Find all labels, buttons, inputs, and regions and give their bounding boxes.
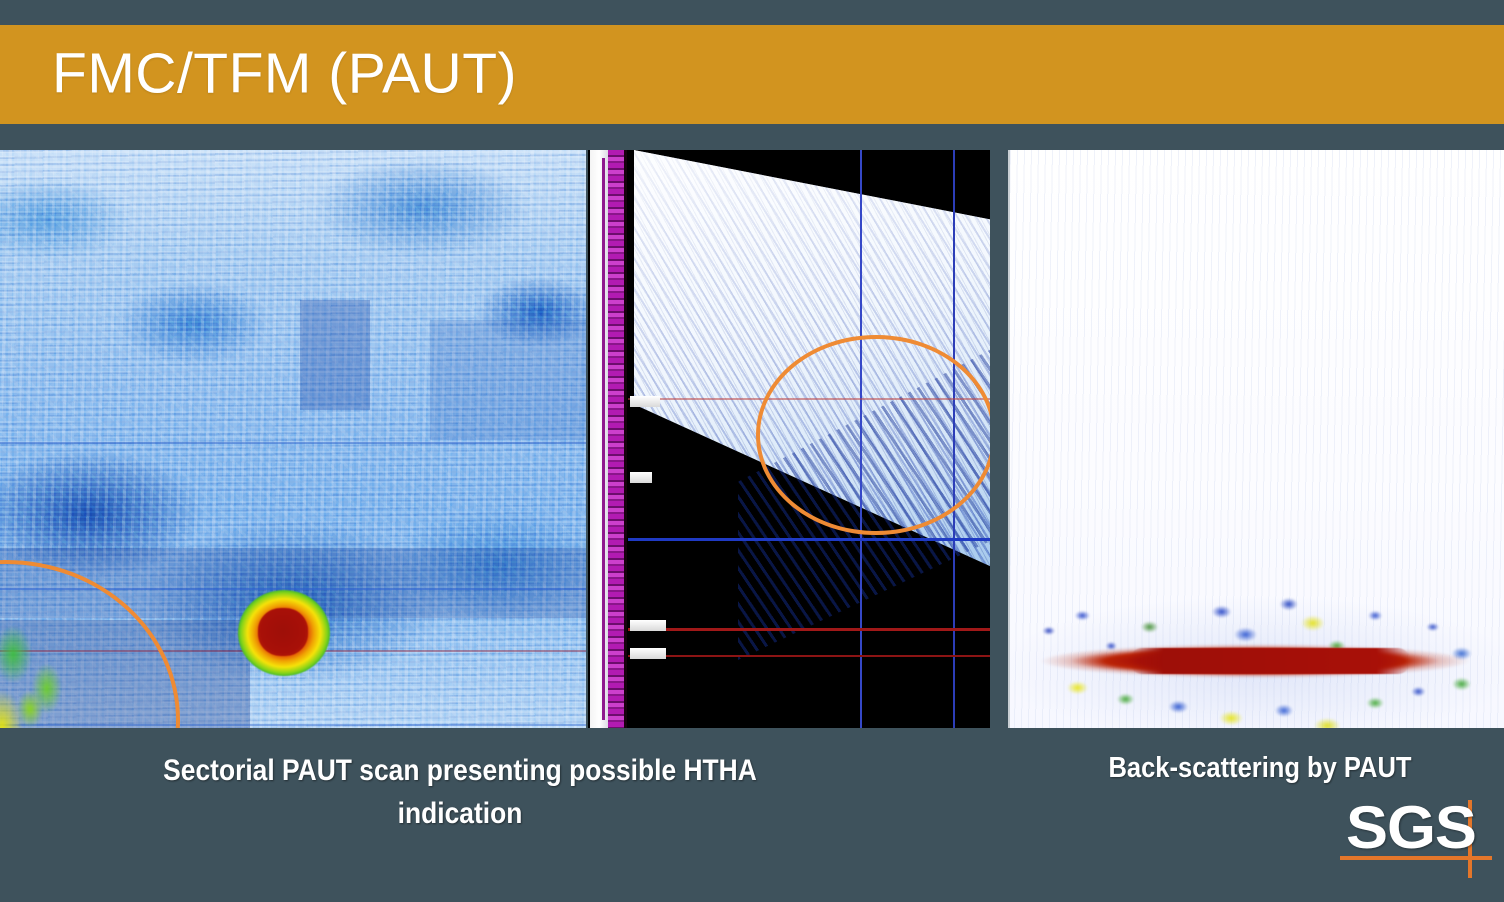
title-band: FMC/TFM (PAUT) (0, 25, 1504, 124)
scan-gate-marker (630, 648, 666, 659)
figure-row: HTHA area (0, 150, 1504, 728)
tfm-hot-spot-core (258, 608, 308, 656)
probe-edge (624, 150, 627, 728)
scan-scale-strip (590, 150, 608, 728)
scan-scale-marker-line (602, 158, 605, 720)
annotation-ellipse-icon (756, 335, 990, 535)
tfm-dark-band (300, 300, 370, 410)
figure-sectorial-scan: HTHA area (588, 150, 990, 728)
tfm-dark-band (430, 320, 586, 440)
scan-gate-marker (630, 472, 652, 483)
tfm-gridline (0, 442, 586, 444)
slide-root: FMC/TFM (PAUT) (0, 0, 1504, 902)
scan-gate-marker (630, 620, 666, 631)
sgs-logo-text: SGS (1346, 798, 1476, 858)
tfm-green-specks (250, 710, 586, 728)
scan-gate-line (628, 655, 990, 657)
figure-back-scattering (1008, 150, 1504, 728)
caption-left: Sectorial PAUT scan presenting possible … (108, 750, 812, 835)
scan-gate-line (628, 628, 990, 631)
scan-gate-marker (630, 396, 660, 407)
sgs-logo: SGS (1340, 800, 1492, 878)
page-title: FMC/TFM (PAUT) (52, 45, 517, 102)
caption-right: Back-scattering by PAUT (1063, 748, 1457, 789)
scan-gate-line (628, 538, 990, 541)
figure-tfm-blue-map (0, 150, 586, 728)
back-scatter-red-core (1130, 648, 1410, 674)
probe-element-strip (608, 150, 625, 728)
